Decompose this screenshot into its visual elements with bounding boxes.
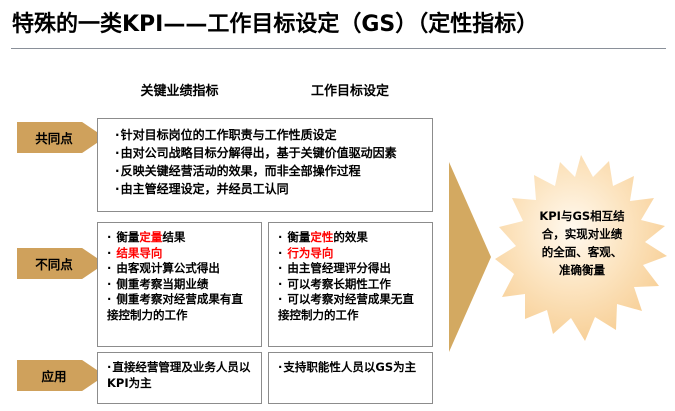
list-item: 可以考察长期性工作 (278, 277, 424, 293)
list-item-text-post: 的效果 (333, 230, 368, 244)
content-box-application-kpi: 直接经营管理及业务人员以KPI为主 (97, 352, 262, 404)
conclusion-line-1: KPI与GS相互结 (523, 207, 641, 225)
content-box-difference-kpi: 衡量定量结果 结果导向 由客观计算公式得出 侧重考察当期业绩 侧重考察对经营成果… (97, 222, 262, 347)
list-item: 由对公司战略目标分解得出，基于关键价值驱动因素 (107, 144, 424, 162)
bullet-list-application-kpi: 直接经营管理及业务人员以KPI为主 (107, 360, 253, 391)
list-item: 由客观计算公式得出 (107, 261, 253, 277)
list-item: 衡量定量结果 (107, 230, 253, 246)
list-item-text-pre: 可以考察长期性工作 (287, 277, 391, 291)
column-header-kpi: 关键业绩指标 (97, 80, 262, 99)
conclusion-text: KPI与GS相互结 合，实现对业绩 的全面、客观、 准确衡量 (523, 207, 641, 279)
list-item: 由主管经理评分得出 (278, 261, 424, 277)
list-item-highlight: 定性 (310, 230, 333, 244)
list-item: 行为导向 (278, 246, 424, 262)
title-divider (11, 48, 666, 49)
list-item: 支持职能性人员以GS为主 (278, 360, 424, 376)
list-item-text-post: 结果 (162, 230, 185, 244)
column-header-gs: 工作目标设定 (267, 80, 433, 99)
content-box-common-points: 针对目标岗位的工作职责与工作性质设定 由对公司战略目标分解得出，基于关键价值驱动… (97, 118, 433, 212)
list-item-highlight: 结果导向 (116, 246, 162, 260)
list-item: 侧重考察对经营成果有直接控制力的工作 (107, 292, 253, 323)
list-item: 衡量定性的效果 (278, 230, 424, 246)
list-item-text-pre: 由客观计算公式得出 (116, 261, 220, 275)
bullet-list-difference-kpi: 衡量定量结果 结果导向 由客观计算公式得出 侧重考察当期业绩 侧重考察对经营成果… (107, 230, 253, 323)
list-item-text-pre: 衡量 (116, 230, 139, 244)
list-item-text-pre: 侧重考察对经营成果有直接控制力的工作 (107, 292, 243, 322)
list-item-text-pre: 衡量 (287, 230, 310, 244)
list-item-text-pre: 侧重考察当期业绩 (116, 277, 208, 291)
list-item: 可以考察对经营成果无直接控制力的工作 (278, 292, 424, 323)
list-item-highlight: 行为导向 (287, 246, 333, 260)
bullet-list-application-gs: 支持职能性人员以GS为主 (278, 360, 424, 376)
list-item-highlight: 定量 (139, 230, 162, 244)
bullet-list-common: 针对目标岗位的工作职责与工作性质设定 由对公司战略目标分解得出，基于关键价值驱动… (107, 126, 424, 198)
conclusion-line-4: 准确衡量 (523, 261, 641, 279)
list-item: 直接经营管理及业务人员以KPI为主 (107, 360, 253, 391)
list-item-text-pre: 由主管经理评分得出 (287, 261, 391, 275)
list-item: 反映关键经营活动的效果，而非全部操作过程 (107, 162, 424, 180)
list-item: 由主管经理设定，并经员工认同 (107, 180, 424, 198)
row-label-application: 应用 (17, 360, 105, 391)
right-arrow-icon (449, 162, 491, 352)
conclusion-line-2: 合，实现对业绩 (523, 225, 641, 243)
conclusion-line-3: 的全面、客观、 (523, 243, 641, 261)
list-item-text-pre: 可以考察对经营成果无直接控制力的工作 (278, 292, 414, 322)
list-item: 结果导向 (107, 246, 253, 262)
list-item: 侧重考察当期业绩 (107, 277, 253, 293)
content-box-difference-gs: 衡量定性的效果 行为导向 由主管经理评分得出 可以考察长期性工作 可以考察对经营… (268, 222, 433, 347)
content-box-application-gs: 支持职能性人员以GS为主 (268, 352, 433, 404)
list-item: 针对目标岗位的工作职责与工作性质设定 (107, 126, 424, 144)
row-label-common: 共同点 (17, 122, 105, 153)
row-label-difference: 不同点 (17, 248, 105, 279)
bullet-list-difference-gs: 衡量定性的效果 行为导向 由主管经理评分得出 可以考察长期性工作 可以考察对经营… (278, 230, 424, 323)
page-title: 特殊的一类KPI——工作目标设定（GS）（定性指标） (12, 6, 667, 38)
